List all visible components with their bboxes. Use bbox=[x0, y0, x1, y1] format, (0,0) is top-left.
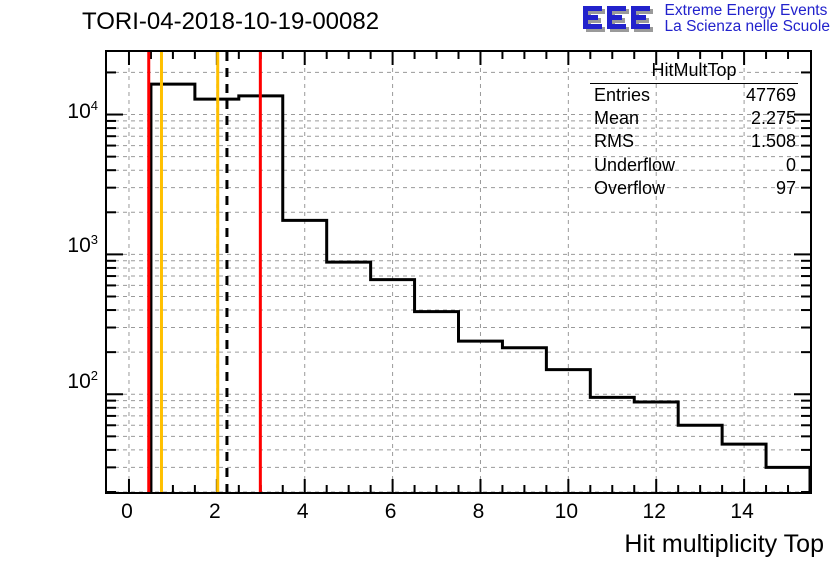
stats-key: Mean bbox=[594, 108, 639, 129]
x-tick-label: 8 bbox=[448, 500, 508, 524]
x-tick-label: 6 bbox=[361, 500, 421, 524]
stats-value: 47769 bbox=[746, 85, 796, 106]
stats-value: 0 bbox=[786, 155, 796, 176]
x-tick-label: 2 bbox=[185, 500, 245, 524]
eee-logo-mark bbox=[581, 2, 659, 38]
eee-logo-line2: La Scienza nelle Scuole bbox=[665, 19, 830, 35]
stats-box: HitMultTop Entries47769Mean2.275RMS1.508… bbox=[590, 60, 798, 200]
stats-value: 97 bbox=[776, 178, 796, 199]
stats-title: HitMultTop bbox=[590, 60, 798, 84]
y-tick-label-1e4: 104 bbox=[50, 98, 98, 124]
eee-logo-line1: Extreme Energy Events bbox=[665, 3, 830, 19]
x-tick-label: 0 bbox=[97, 500, 157, 524]
stats-key: Entries bbox=[594, 85, 650, 106]
x-axis-title: Hit multiplicity Top bbox=[624, 530, 824, 559]
plot-canvas: TORI-04-2018-10-19-00082 bbox=[0, 0, 836, 572]
page-title: TORI-04-2018-10-19-00082 bbox=[82, 8, 379, 36]
stats-row: Mean2.275 bbox=[590, 107, 798, 130]
stats-row: Overflow97 bbox=[590, 177, 798, 200]
stats-rows: Entries47769Mean2.275RMS1.508Underflow0O… bbox=[590, 84, 798, 200]
x-tick-label: 4 bbox=[273, 500, 333, 524]
stats-row: Entries47769 bbox=[590, 84, 798, 107]
stats-key: RMS bbox=[594, 131, 634, 152]
eee-logo: Extreme Energy Events La Scienza nelle S… bbox=[581, 2, 830, 38]
y-tick-label-1e2: 102 bbox=[50, 368, 98, 394]
stats-key: Overflow bbox=[594, 178, 665, 199]
y-tick-label-1e3: 103 bbox=[50, 232, 98, 258]
stats-row: RMS1.508 bbox=[590, 130, 798, 153]
x-tick-label: 14 bbox=[712, 500, 772, 524]
x-tick-label: 10 bbox=[536, 500, 596, 524]
stats-value: 2.275 bbox=[751, 108, 796, 129]
x-tick-label: 12 bbox=[624, 500, 684, 524]
stats-row: Underflow0 bbox=[590, 154, 798, 177]
stats-value: 1.508 bbox=[751, 131, 796, 152]
stats-key: Underflow bbox=[594, 155, 675, 176]
eee-logo-text: Extreme Energy Events La Scienza nelle S… bbox=[665, 2, 830, 35]
